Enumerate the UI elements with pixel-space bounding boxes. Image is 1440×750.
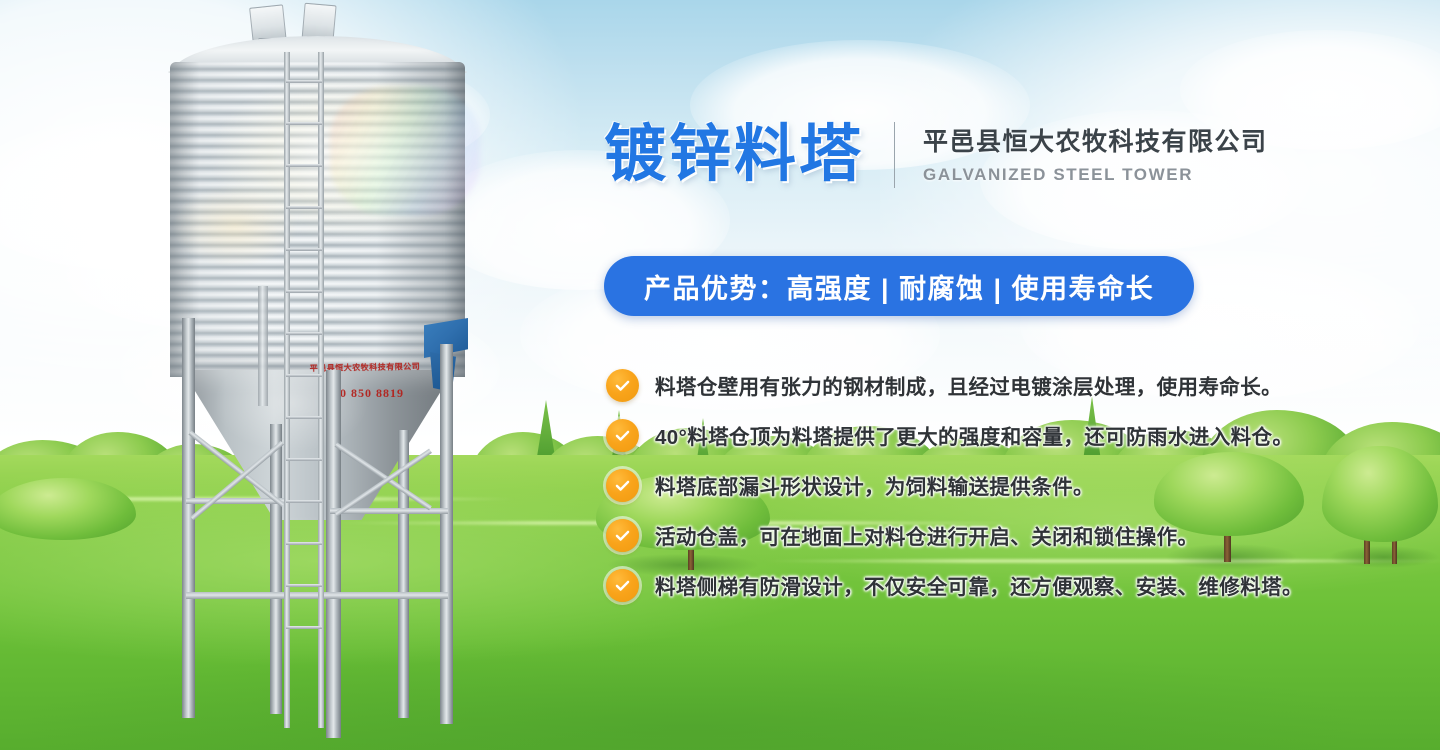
silo-ladder-rung [286, 80, 322, 83]
company-name: 平邑县恒大农牧科技有限公司 [923, 127, 1268, 158]
silo-brace-horizontal-1 [186, 592, 448, 599]
silo-ladder-rung [286, 290, 322, 293]
check-circle-icon [606, 569, 639, 602]
feature-text: 活动仓盖，可在地面上对料仓进行开启、关闭和锁住操作。 [655, 520, 1198, 550]
silo-ladder-rung [286, 332, 322, 335]
silo-vertical-stiffener [258, 286, 268, 406]
headline-divider [894, 122, 895, 188]
feature-text: 40°料塔仓顶为料塔提供了更大的强度和容量，还可防雨水进入料仓。 [655, 420, 1293, 450]
list-item: 料塔仓壁用有张力的钢材制成，且经过电镀涂层处理，使用寿命长。 [606, 360, 1306, 410]
silo-ladder-rung [286, 584, 322, 587]
list-item: 料塔底部漏斗形状设计，为饲料输送提供条件。 [606, 460, 1306, 510]
silo-ladder-rung [286, 542, 322, 545]
product-image-silo: 平邑县恒大农牧科技有限公司 400 850 8819 [0, 0, 560, 750]
company-subtitle: GALVANIZED STEEL TOWER [923, 165, 1268, 185]
feature-text: 料塔侧梯有防滑设计，不仅安全可靠，还方便观察、安装、维修料塔。 [655, 570, 1303, 600]
feature-text: 料塔仓壁用有张力的钢材制成，且经过电镀涂层处理，使用寿命长。 [655, 370, 1282, 400]
silo-ladder-rung [286, 248, 322, 251]
feature-text: 料塔底部漏斗形状设计，为饲料输送提供条件。 [655, 470, 1094, 500]
silo-ladder-rung [286, 374, 322, 377]
list-item: 活动仓盖，可在地面上对料仓进行开启、关闭和锁住操作。 [606, 510, 1306, 560]
silo-lens-flare [330, 86, 480, 216]
check-circle-icon [606, 419, 639, 452]
list-item: 料塔侧梯有防滑设计，不仅安全可靠，还方便观察、安装、维修料塔。 [606, 560, 1306, 610]
silo-ladder-rung [286, 626, 322, 629]
silo-ladder-rung [286, 164, 322, 167]
silo-ladder-rung [286, 458, 322, 461]
check-circle-icon [606, 519, 639, 552]
product-advantage-text: 产品优势：高强度 | 耐腐蚀 | 使用寿命长 [644, 267, 1154, 306]
foreground-tree-right [1322, 446, 1440, 566]
product-advantage-banner: 产品优势：高强度 | 耐腐蚀 | 使用寿命长 [604, 256, 1194, 316]
feature-list: 料塔仓壁用有张力的钢材制成，且经过电镀涂层处理，使用寿命长。 40°料塔仓顶为料… [606, 360, 1306, 610]
silo-leg-4 [440, 344, 453, 724]
silo-ladder-rung [286, 500, 322, 503]
silo-ladder-rung [286, 416, 322, 419]
silo-ladder-rung [286, 122, 322, 125]
silo-ladder-rung [286, 206, 322, 209]
page-title: 镀锌料塔 [604, 124, 864, 186]
list-item: 40°料塔仓顶为料塔提供了更大的强度和容量，还可防雨水进入料仓。 [606, 410, 1306, 460]
silo-leg-3 [270, 424, 282, 714]
headline-row: 镀锌料塔 平邑县恒大农牧科技有限公司 GALVANIZED STEEL TOWE… [604, 122, 1268, 188]
check-circle-icon [606, 469, 639, 502]
silo-leg-2 [326, 370, 341, 738]
check-circle-icon [606, 369, 639, 402]
hero-banner: 平邑县恒大农牧科技有限公司 400 850 8819 [0, 0, 1440, 750]
company-block: 平邑县恒大农牧科技有限公司 GALVANIZED STEEL TOWER [923, 125, 1268, 185]
